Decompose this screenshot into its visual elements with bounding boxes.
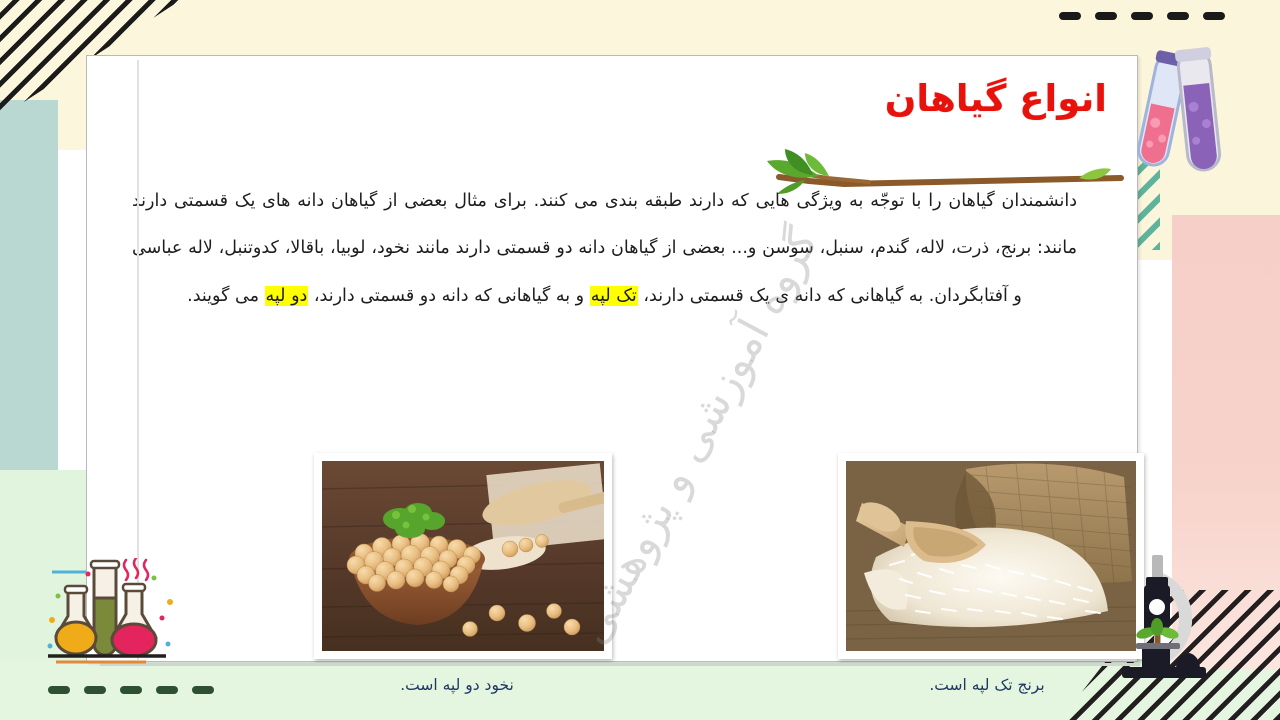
figure-rice: [838, 453, 1144, 659]
dash-mark: [1059, 12, 1081, 20]
dash-mark: [48, 686, 70, 694]
background-teal-block: [0, 100, 58, 480]
dash-mark: [1131, 12, 1153, 20]
dash-mark: [1203, 12, 1225, 20]
microscope-icon: [1102, 555, 1222, 690]
card-underline: [100, 663, 1140, 666]
page-title-text: انواع گیاهان: [885, 80, 1107, 117]
rice-photo: [846, 461, 1136, 651]
dash-mark: [192, 686, 214, 694]
highlight-monocot: تک لپه: [590, 286, 638, 306]
dash-mark: [84, 686, 106, 694]
figure-chickpea: [314, 453, 612, 659]
body-paragraph: دانشمندان گیاهان را با توجّه به ویژگی ها…: [132, 178, 1077, 320]
dash-row-bottom-left: [48, 686, 214, 694]
body-segment-2: و به گیاهانی که دانه دو قسمتی دارند،: [308, 286, 589, 306]
slide-root: انواع گیاهان دانشمندان گیاهان را با توجّ…: [0, 0, 1280, 720]
dash-mark: [120, 686, 142, 694]
dash-mark: [1167, 12, 1189, 20]
page-title: انواع گیاهان: [885, 80, 1107, 117]
dash-mark: [1095, 12, 1117, 20]
dash-mark: [156, 686, 178, 694]
chemistry-flasks-icon: [42, 558, 192, 678]
figure-caption-chickpea: نخود دو لپه است.: [287, 676, 627, 694]
body-segment-4: می گویند.: [187, 286, 264, 306]
highlight-dicot: دو لپه: [265, 286, 309, 306]
content-card: انواع گیاهان دانشمندان گیاهان را با توجّ…: [86, 55, 1138, 662]
chickpea-photo: [322, 461, 604, 651]
test-tubes-icon: [1122, 40, 1242, 190]
dash-row-top-right: [1059, 12, 1225, 20]
